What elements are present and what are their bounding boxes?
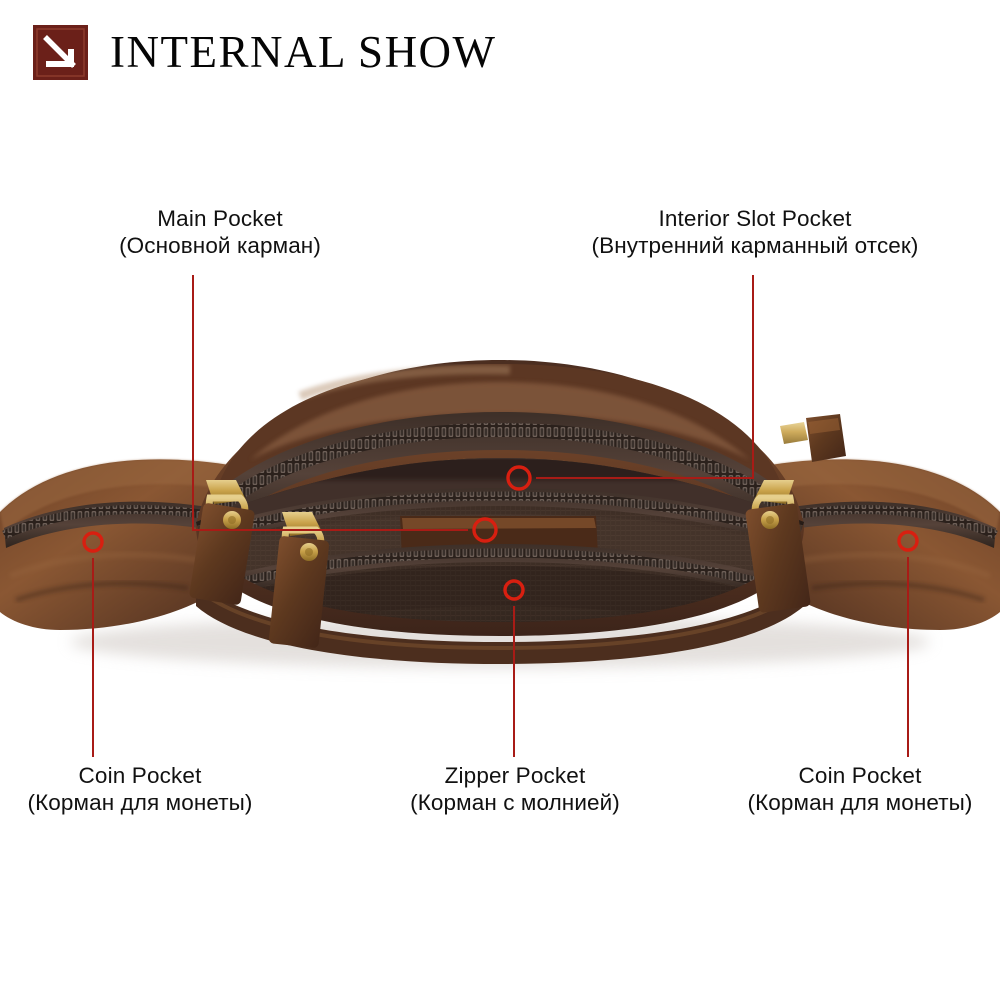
side-leather-tab [806,414,846,462]
brand-header: INTERNAL SHOW [0,0,1000,110]
callout-interior-slot-pocket-ru: (Внутренний карманный отсек) [575,232,935,259]
callout-coin-pocket-right-en: Coin Pocket [680,762,1000,789]
callout-main-pocket: Main Pocket (Основной карман) [40,205,400,260]
callout-main-pocket-en: Main Pocket [40,205,400,232]
callout-interior-slot-pocket-en: Interior Slot Pocket [575,205,935,232]
product-infographic-page: INTERNAL SHOW [0,0,1000,1000]
callout-interior-slot-pocket: Interior Slot Pocket (Внутренний карманн… [575,205,935,260]
callout-coin-pocket-left-ru: (Корман для монеты) [0,789,320,816]
callout-coin-pocket-left-en: Coin Pocket [0,762,320,789]
brand-logo-icon [33,25,88,80]
callout-coin-pocket-left: Coin Pocket (Корман для монеты) [0,762,320,817]
callout-zipper-pocket: Zipper Pocket (Корман с молнией) [335,762,695,817]
product-image [0,330,1000,730]
brand-title: INTERNAL SHOW [110,22,497,82]
callout-coin-pocket-right: Coin Pocket (Корман для монеты) [680,762,1000,817]
callout-coin-pocket-right-ru: (Корман для монеты) [680,789,1000,816]
callout-zipper-pocket-en: Zipper Pocket [335,762,695,789]
callout-zipper-pocket-ru: (Корман с молнией) [335,789,695,816]
callout-main-pocket-ru: (Основной карман) [40,232,400,259]
